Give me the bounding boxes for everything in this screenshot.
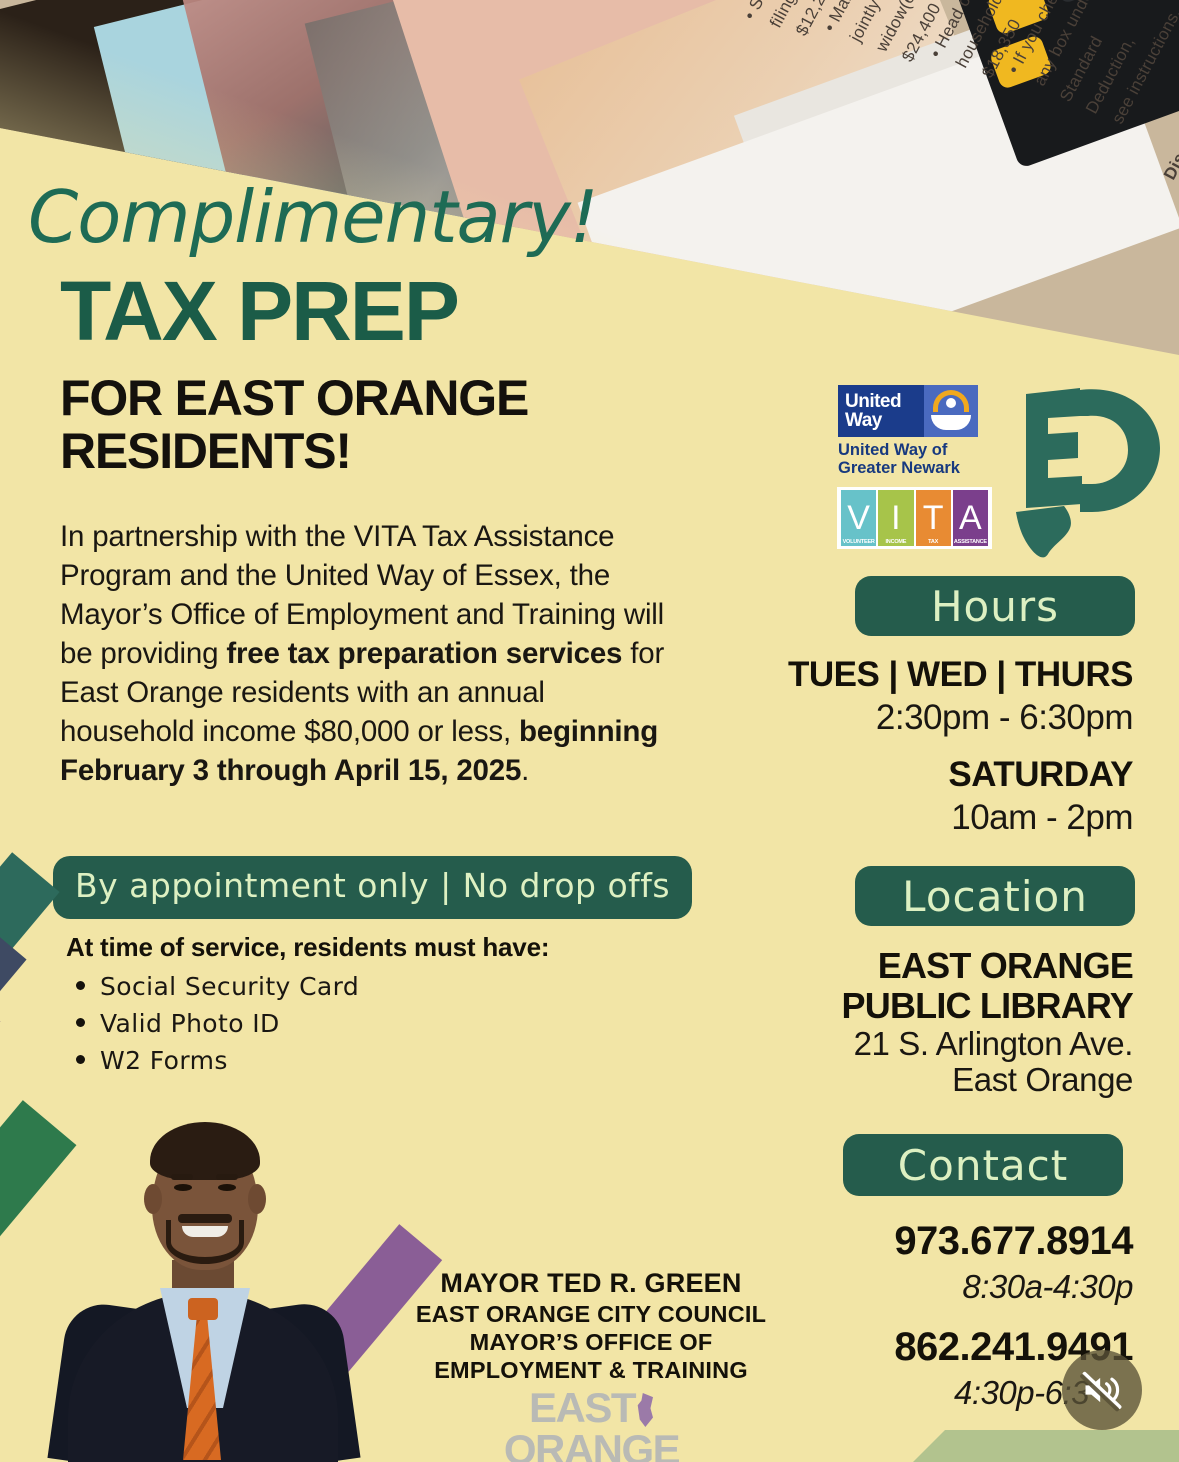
city-council-label: EAST ORANGE CITY COUNCIL: [396, 1300, 786, 1328]
mayor-portrait-photo: [40, 1092, 365, 1462]
portrait-hair: [150, 1122, 260, 1180]
appointment-notice-banner: By appointment only | No drop offs: [53, 856, 692, 919]
united-way-logo: United Way: [838, 385, 978, 437]
hours-days-1: TUES | WED | THURS: [788, 655, 1133, 695]
page-subtitle-line1: FOR EAST ORANGE: [60, 372, 740, 425]
location-name-line1: EAST ORANGE: [842, 946, 1133, 986]
speaker-muted-icon: [1080, 1368, 1124, 1412]
united-way-line1: United: [845, 392, 924, 411]
mayors-office-line2: EMPLOYMENT & TRAINING: [396, 1356, 786, 1384]
list-item: Social Security Card: [100, 968, 359, 1005]
vita-word-tax: TAX: [916, 539, 951, 545]
portrait-eye-right: [218, 1184, 236, 1191]
location-name-line2: PUBLIC LIBRARY: [842, 986, 1133, 1026]
east-orange-monogram-logo: [1008, 372, 1168, 562]
page-subtitle: FOR EAST ORANGE RESIDENTS!: [60, 372, 740, 478]
portrait-eye-left: [174, 1184, 192, 1191]
brand-word-orange: ORANGE: [504, 1429, 679, 1462]
east-orange-brand-logo: EASTORANGE ONE CITY, ONE COMMUNITY: [449, 1387, 734, 1462]
vita-letter-t: T TAX: [916, 490, 951, 546]
vita-letter-v-glyph: V: [847, 499, 870, 538]
united-way-caption-line1: United Way of: [838, 441, 1008, 459]
vita-letter-i-glyph: I: [891, 499, 900, 538]
hours-time-2: 10am - 2pm: [951, 798, 1133, 838]
mayor-name: MAYOR TED R. GREEN: [396, 1268, 786, 1300]
vita-letter-v: V VOLUNTEER: [841, 490, 876, 546]
portrait-eyebrow-right: [216, 1174, 238, 1180]
flyer-canvas: Deduc • Single or filing separa $12,200 …: [0, 0, 1179, 1462]
list-item: W2 Forms: [100, 1042, 359, 1079]
vita-word-volunteer: VOLUNTEER: [841, 539, 876, 545]
united-way-rainbow-icon: [924, 385, 978, 437]
requirements-heading: At time of service, residents must have:: [66, 932, 549, 963]
portrait-ear-right: [248, 1184, 266, 1214]
united-way-line2: Way: [845, 411, 924, 430]
new-jersey-state-icon: [636, 1393, 653, 1427]
mayor-credit-block: MAYOR TED R. GREEN EAST ORANGE CITY COUN…: [396, 1268, 786, 1384]
location-address-line1: 21 S. Arlington Ave.: [854, 1026, 1133, 1062]
contact-section-title: Contact: [843, 1134, 1123, 1196]
east-orange-wordmark: EASTORANGE: [449, 1387, 734, 1462]
location-section-title: Location: [855, 866, 1135, 926]
mayors-office-line1: MAYOR’S OFFICE OF: [396, 1328, 786, 1356]
vita-logo: V VOLUNTEER I INCOME T TAX A ASSISTANCE: [837, 487, 992, 549]
hand-shape: [931, 415, 971, 430]
hours-days-2: SATURDAY: [948, 755, 1133, 795]
hours-section-title: Hours: [855, 576, 1135, 636]
united-way-caption-line2: Greater Newark: [838, 459, 1008, 477]
page-title-script: Complimentary!: [28, 175, 598, 259]
vita-word-income: INCOME: [878, 539, 913, 545]
description-paragraph: In partnership with the VITA Tax Assista…: [60, 518, 680, 791]
united-way-wordmark: United Way: [838, 385, 924, 437]
decorative-stripe-olive: [905, 1430, 1179, 1462]
description-bold-1: free tax preparation services: [226, 637, 622, 670]
person-figure: [946, 398, 956, 408]
page-subtitle-line2: RESIDENTS!: [60, 425, 740, 478]
list-item: Valid Photo ID: [100, 1005, 359, 1042]
mute-toggle-button[interactable]: [1062, 1350, 1142, 1430]
description-part-3: .: [521, 754, 529, 787]
united-way-caption: United Way of Greater Newark: [838, 441, 1008, 478]
location-address-line2: East Orange: [854, 1062, 1133, 1098]
vita-letter-t-glyph: T: [923, 499, 944, 538]
vita-word-assistance: ASSISTANCE: [953, 539, 988, 545]
vita-letter-a-glyph: A: [959, 499, 982, 538]
vita-letter-a: A ASSISTANCE: [953, 490, 988, 546]
location-name: EAST ORANGE PUBLIC LIBRARY: [842, 946, 1133, 1025]
contact-hours-1: 8:30a-4:30p: [962, 1268, 1133, 1306]
requirements-list: Social Security Card Valid Photo ID W2 F…: [66, 968, 359, 1079]
contact-phone-1[interactable]: 973.677.8914: [894, 1219, 1133, 1264]
hours-time-1: 2:30pm - 6:30pm: [876, 698, 1133, 738]
portrait-moustache: [178, 1214, 232, 1223]
portrait-tie-knot: [188, 1298, 218, 1320]
page-title-main: TAX PREP: [60, 272, 458, 352]
portrait-eyebrow-left: [171, 1174, 193, 1180]
vita-letter-i: I INCOME: [878, 490, 913, 546]
brand-word-east: EAST: [529, 1387, 635, 1429]
location-address: 21 S. Arlington Ave. East Orange: [854, 1026, 1133, 1099]
portrait-smile: [182, 1226, 228, 1237]
portrait-ear-left: [144, 1184, 162, 1214]
